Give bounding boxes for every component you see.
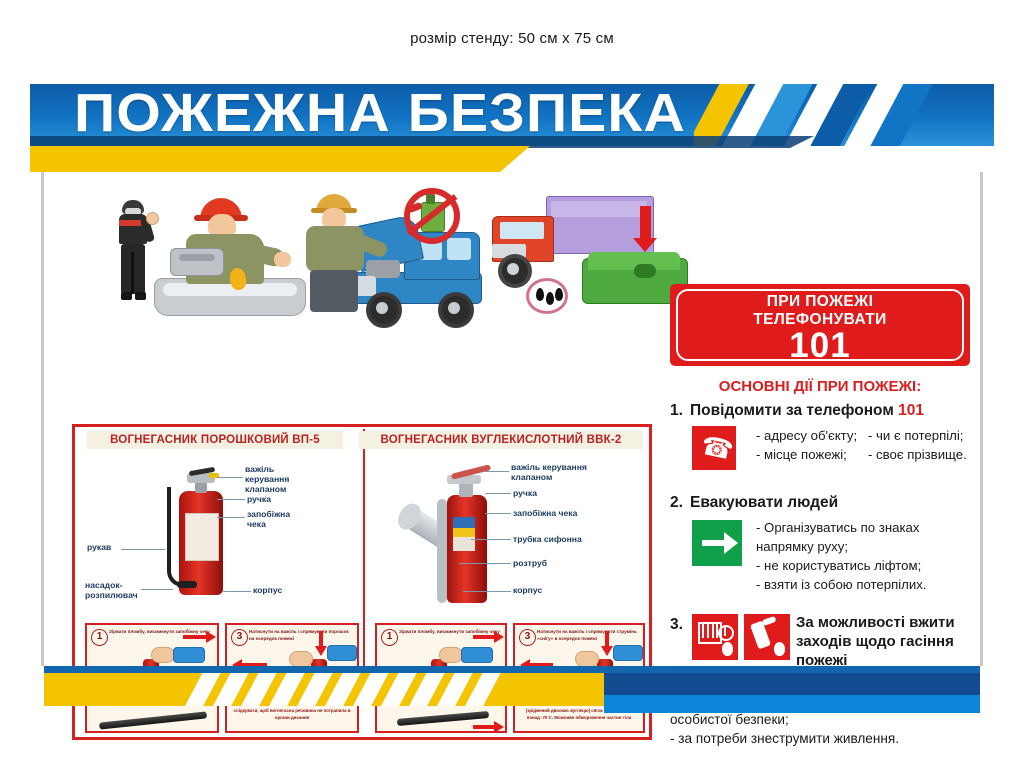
- action-step-2: 2. Евакуювати людей - Організуватись по …: [670, 494, 970, 586]
- powder-extinguisher-header: ВОГНЕГАСНИК ПОРОШКОВИЙ ВП-5: [87, 431, 343, 449]
- label-powder-nozzle: насадок- розпилювач: [85, 581, 138, 601]
- footer-blue-line: [44, 666, 980, 673]
- poster-body: ВОГНЕГАСНИК ПОРОШКОВИЙ ВП-5 ВОГНЕГАСНИК …: [44, 172, 980, 666]
- step1-heading: Повідомити за телефоном: [690, 402, 894, 419]
- label-co2-siphon: трубка сифонна: [513, 535, 582, 545]
- fire-hose-icon: [692, 614, 738, 660]
- footer-light-blue-band: [604, 695, 980, 713]
- actions-title: ОСНОВНІ ДІЇ ПРИ ПОЖЕЖІ:: [670, 378, 970, 395]
- illustration-strip: [74, 188, 654, 318]
- co2-extinguisher-diagram: важіль керування клапаном ручка запобіжн…: [371, 457, 645, 617]
- emergency-call-box: ПРИ ПОЖЕЖІ ТЕЛЕФОНУВАТИ 101: [670, 284, 970, 366]
- footer-dark-blue-band: [604, 673, 980, 695]
- phone-icon: ☎: [692, 426, 736, 470]
- fire-extinguisher-icon: [744, 614, 790, 660]
- label-powder-lever: важіль керування клапаном: [245, 465, 289, 495]
- label-co2-lever: важіль керування клапаном: [511, 463, 587, 483]
- label-co2-horn: розтруб: [513, 559, 547, 569]
- poster-title: ПОЖЕЖНА БЕЗПЕКА: [74, 84, 686, 144]
- step1-bullets: - адресу об'єкту; - місце пожежі; - чи є…: [756, 426, 970, 464]
- no-open-flame-prohibition-icon: [404, 188, 460, 244]
- step1-number: 101: [898, 402, 924, 419]
- action-step-1: 1. Повідомити за телефоном 101 ☎ - адрес…: [670, 402, 970, 486]
- label-powder-handle: ручка: [247, 495, 271, 505]
- label-powder-hose: рукав: [87, 543, 111, 553]
- down-arrow-icon: [319, 631, 323, 647]
- powder-extinguisher-drawing: [169, 469, 233, 601]
- step2-heading: Евакуювати людей: [690, 494, 838, 512]
- label-co2-pin: запобіжна чека: [513, 509, 577, 519]
- down-arrow-icon: [605, 631, 609, 647]
- fire-safety-poster: ПОЖЕЖНА БЕЗПЕКА: [30, 84, 994, 716]
- label-powder-pin: запобіжна чека: [247, 510, 290, 530]
- right-arrow-icon: [473, 725, 495, 729]
- emergency-number: 101: [670, 326, 970, 366]
- step2-bullets: - Організуватись по знаках напрямку руху…: [756, 518, 970, 595]
- right-arrow-icon: [473, 635, 495, 639]
- footer-yellow-band: [44, 673, 604, 706]
- co2-extinguisher-header: ВОГНЕГАСНИК ВУГЛЕКИСЛОТНИЙ ВВК-2: [359, 431, 643, 449]
- label-co2-handle: ручка: [513, 489, 537, 499]
- header-yellow-band: [30, 146, 500, 172]
- right-arrow-icon: [183, 635, 207, 639]
- label-co2-body: корпус: [513, 586, 542, 596]
- powder-extinguisher-diagram: важіль керування клапаном ручка запобіжн…: [83, 457, 359, 617]
- helmet-icon: [122, 200, 144, 214]
- firefighter-illustration: [110, 200, 156, 304]
- worker-washing-parts-illustration: [170, 194, 300, 314]
- stand-size-caption: розмір стенду: 50 см x 75 см: [0, 30, 1024, 47]
- fuel-drip-warning-icon: [526, 278, 568, 314]
- exit-arrow-icon: [692, 520, 742, 566]
- down-arrow-icon: [640, 206, 651, 240]
- label-powder-body: корпус: [253, 586, 282, 596]
- step3-heading: За можливості вжити заходів щодо гасіння…: [796, 614, 970, 670]
